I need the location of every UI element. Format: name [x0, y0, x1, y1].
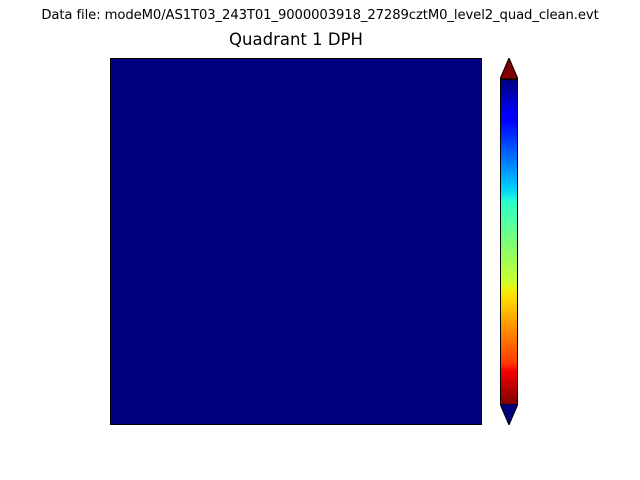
colorbar-body[interactable] — [500, 79, 518, 405]
colorbar-gradient — [501, 80, 517, 404]
axes-title: Quadrant 1 DPH — [110, 30, 482, 49]
figure-canvas: Data file: modeM0/AS1T03_243T01_90000039… — [0, 0, 640, 480]
figure-suptitle: Data file: modeM0/AS1T03_243T01_90000039… — [0, 8, 640, 23]
heatmap-axes[interactable] — [110, 58, 482, 425]
heatmap-image[interactable] — [111, 59, 481, 424]
colorbar[interactable] — [500, 58, 518, 425]
colorbar-under-arrow-icon — [500, 404, 518, 425]
colorbar-over-arrow-icon — [500, 58, 518, 79]
